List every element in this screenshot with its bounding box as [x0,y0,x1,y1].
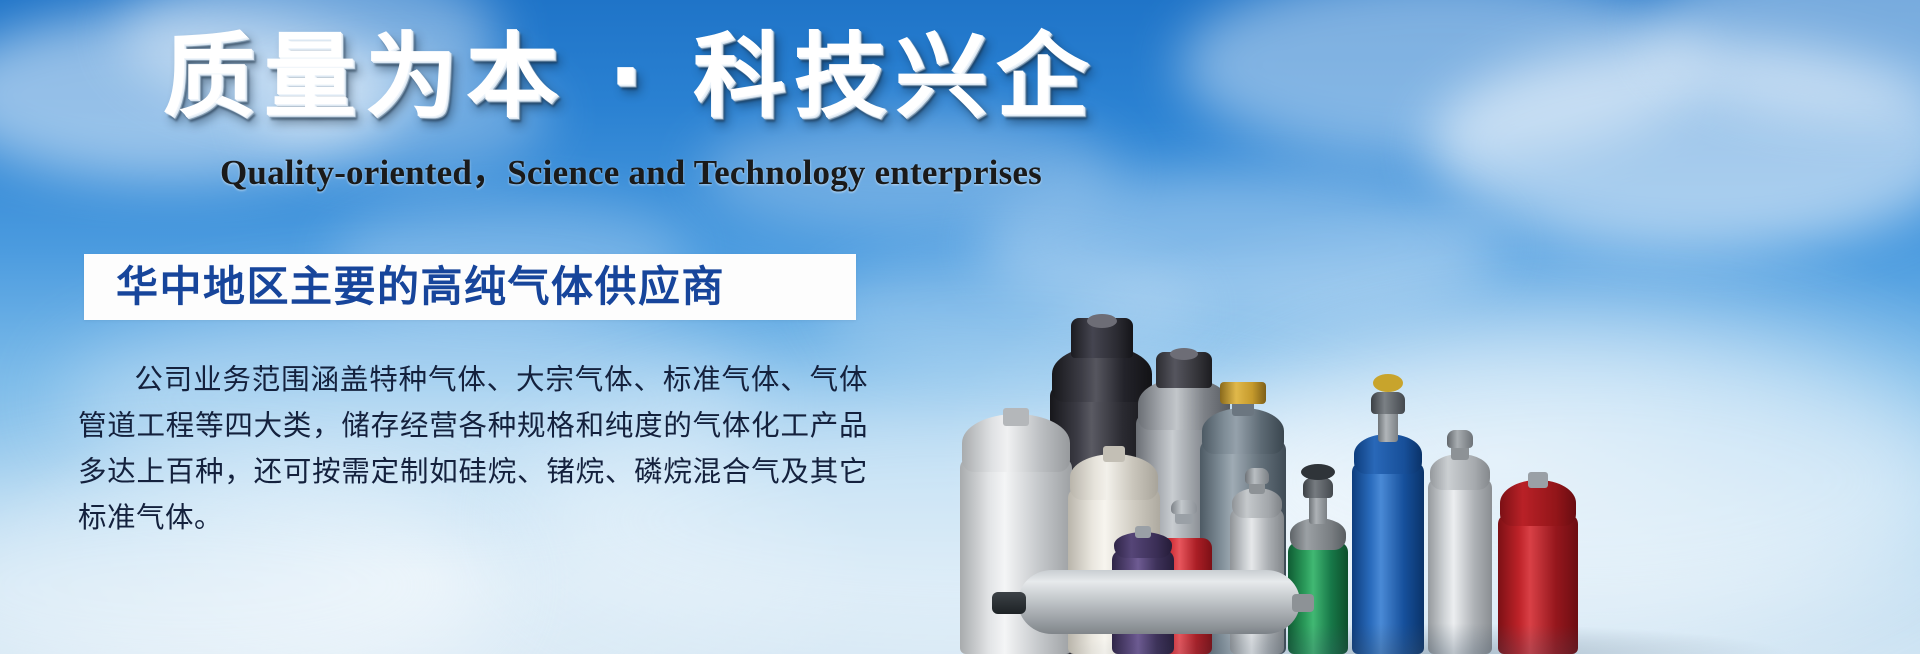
callout-box: 华中地区主要的高纯气体供应商 [84,254,856,320]
promo-banner: 质量为本 · 科技兴企 Quality-oriented，Science and… [0,0,1920,654]
cylinder-valve-icon [1447,430,1473,448]
cylinder-valve-icon [1371,392,1405,414]
cylinder-neck [1528,472,1548,488]
callout-text: 华中地区主要的高纯气体供应商 [84,263,725,311]
paragraph-text: 公司业务范围涵盖特种气体、大宗气体、标准气体、气体管道工程等四大类，储存经营各种… [78,363,868,534]
cylinder-valve-icon [1303,478,1333,498]
cylinder-handle-icon [1373,374,1403,392]
cylinder-neck [1309,494,1327,524]
cylinder-brass-valve-icon [1220,382,1266,404]
ground-shadow [930,584,1920,654]
cylinder-valve-icon [1171,500,1197,514]
cylinder-valve-knob [1087,314,1117,328]
description-paragraph: 公司业务范围涵盖特种气体、大宗气体、标准气体、气体管道工程等四大类，储存经营各种… [78,357,868,541]
gas-cylinders-photo [900,0,1920,654]
cylinder-handle-icon [1301,464,1335,480]
cylinder-neck [1103,446,1125,462]
cylinder-valve-icon [1245,468,1269,484]
cylinder-neck [1135,526,1151,538]
cylinder-valve-knob [1170,348,1198,360]
cylinder-neck [1003,408,1029,426]
